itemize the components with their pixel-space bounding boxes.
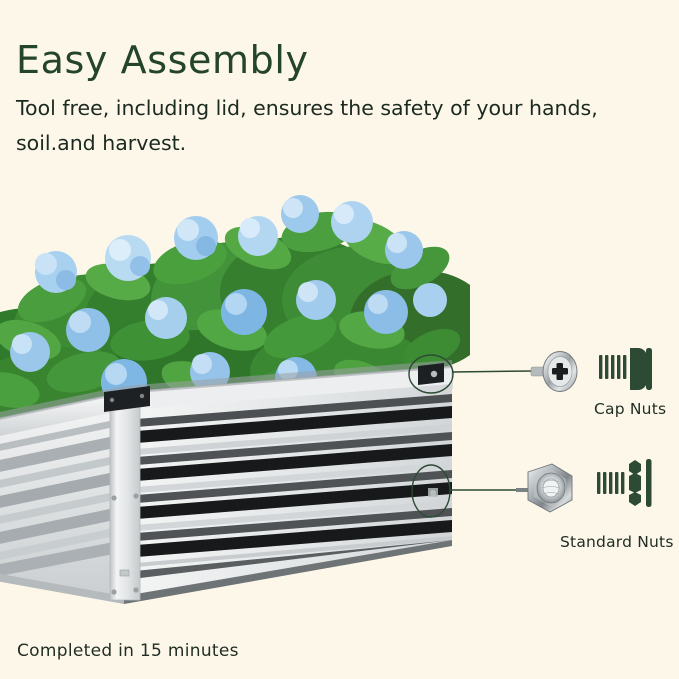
flower-cluster (238, 216, 278, 256)
assembly-time-caption: Completed in 15 minutes (17, 641, 239, 661)
post-label-plate (120, 570, 129, 576)
flower-cluster (174, 216, 218, 260)
post-screw (111, 589, 116, 594)
flower-cluster (221, 289, 267, 335)
hex-nut-photo (516, 464, 572, 512)
cap-nut-on-bed (431, 371, 437, 377)
bracket-screw (110, 398, 114, 402)
flower-cluster (66, 308, 110, 352)
page-title: Easy Assembly (16, 38, 309, 82)
flower-cluster (331, 201, 373, 243)
flower-cluster (385, 231, 423, 269)
flower-cluster (413, 283, 447, 317)
post-screw (133, 587, 138, 592)
leader-line-cap-nuts (452, 371, 533, 372)
product-marketing-image: Easy Assembly Tool free, including lid, … (0, 0, 679, 679)
screw-photo (531, 352, 577, 392)
flower-cluster (296, 280, 336, 320)
standard-nut-icon (597, 459, 652, 507)
flower-cluster (281, 195, 319, 233)
flower-cluster (35, 251, 77, 293)
post-screw (111, 495, 116, 500)
bracket-screw (140, 394, 144, 398)
cap-nut-icon (599, 348, 652, 390)
flower-cluster (105, 235, 151, 281)
callout-label-standard-nuts: Standard Nuts (560, 533, 674, 551)
fastener-plate (428, 488, 438, 497)
callout-label-cap-nuts: Cap Nuts (594, 400, 666, 418)
flower-cluster (364, 290, 408, 334)
flower-cluster (10, 332, 50, 372)
page-subtitle: Tool free, including lid, ensures the sa… (16, 91, 616, 161)
flower-cluster (145, 297, 187, 339)
post-screw (133, 493, 138, 498)
